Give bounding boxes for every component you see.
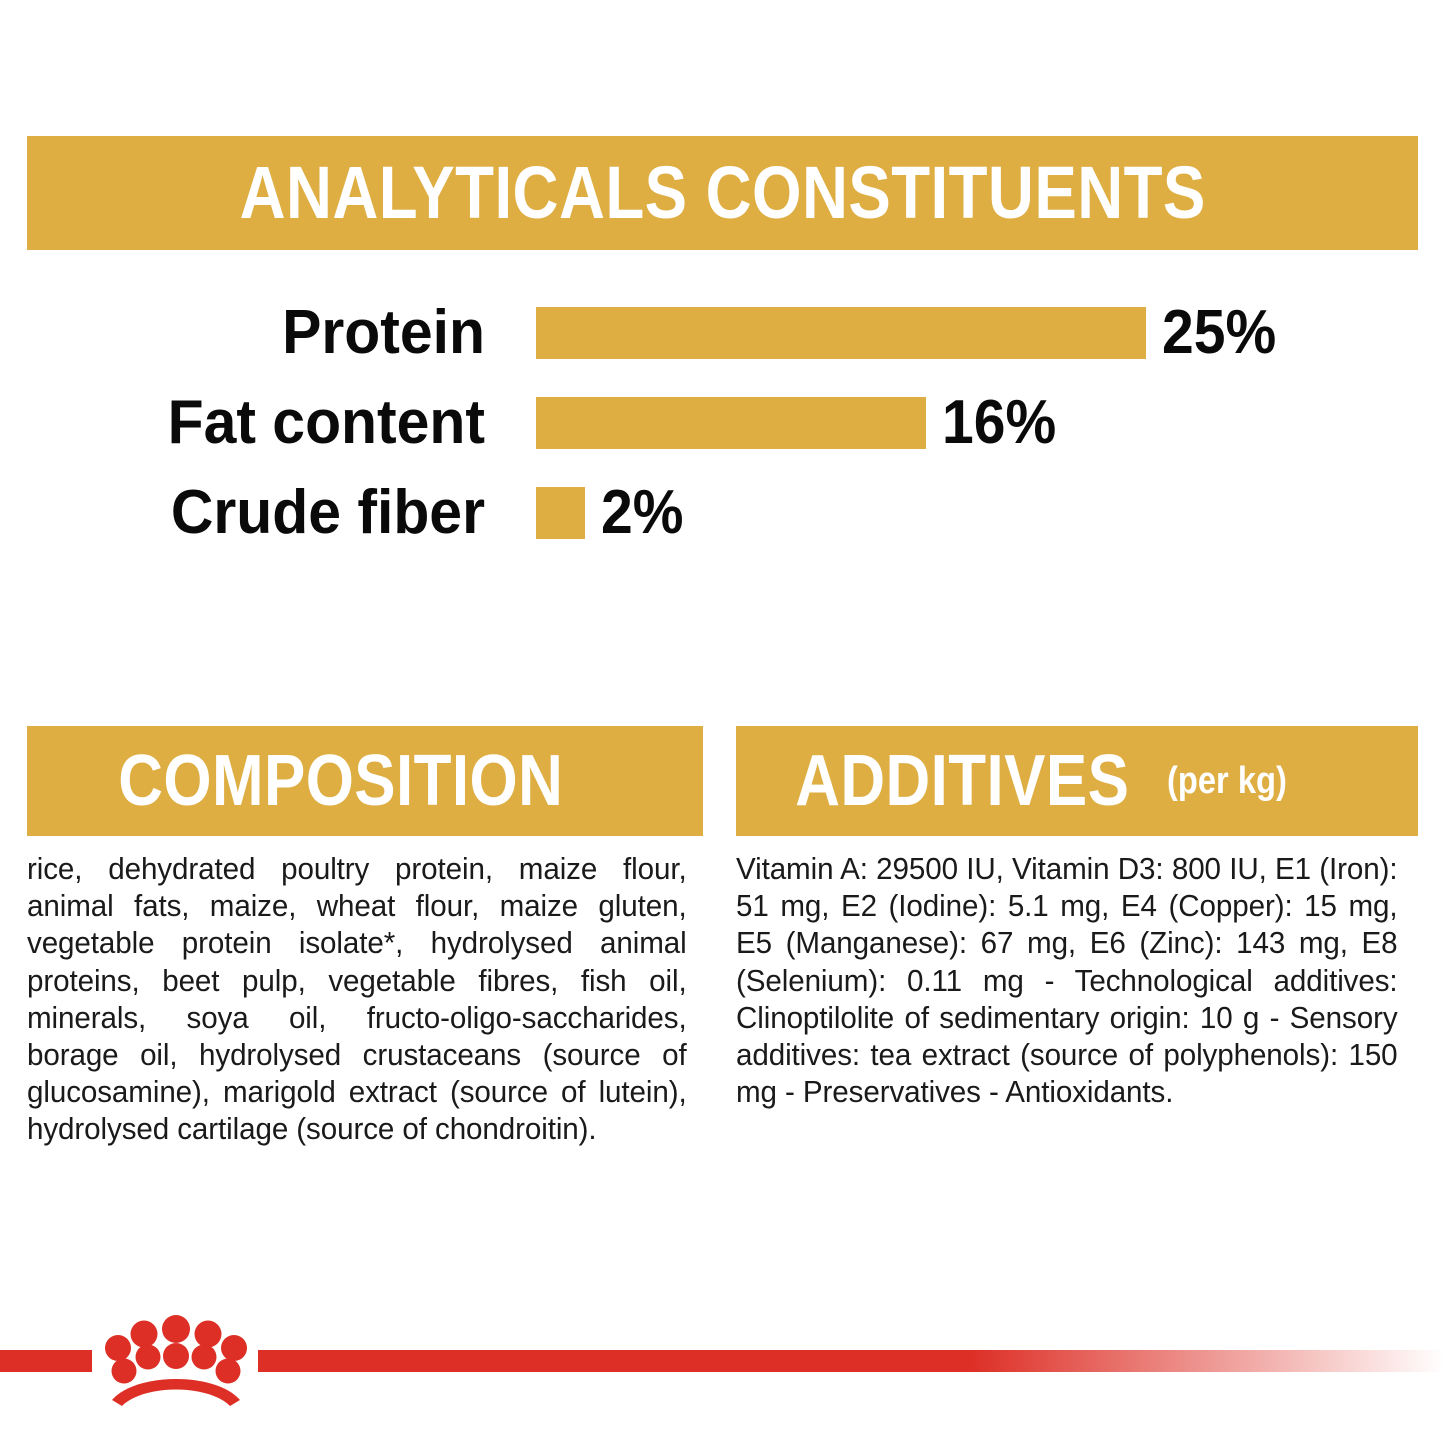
composition-header: COMPOSITION bbox=[27, 726, 703, 836]
footer bbox=[0, 1330, 1445, 1390]
bar-track-protein: 25% bbox=[536, 307, 1286, 359]
bar-label-protein: Protein bbox=[24, 302, 485, 364]
composition-heading-text: COMPOSITION bbox=[118, 745, 563, 817]
additives-heading-text: ADDITIVES bbox=[795, 745, 1129, 817]
composition-body-text: rice, dehydrated poultry protein, maize … bbox=[27, 851, 687, 1149]
bar-track-crude-fiber: 2% bbox=[536, 487, 690, 539]
royal-canin-crown-icon bbox=[96, 1312, 256, 1408]
analyticals-heading-text: ANALYTICALS CONSTITUENTS bbox=[239, 156, 1205, 230]
bar-fill-fat-content bbox=[536, 397, 926, 449]
footer-rule-left bbox=[0, 1350, 92, 1372]
analyticals-constituents-header: ANALYTICALS CONSTITUENTS bbox=[27, 136, 1418, 250]
additives-header: ADDITIVES (per kg) bbox=[736, 726, 1418, 836]
bar-track-fat-content: 16% bbox=[536, 397, 1066, 449]
additives-heading-suffix: (per kg) bbox=[1167, 762, 1287, 800]
constituents-bar-chart: Protein 25% Fat content 16% Crude fiber … bbox=[0, 288, 1445, 563]
bar-fill-crude-fiber bbox=[536, 487, 585, 539]
bar-row-crude-fiber: Crude fiber 2% bbox=[0, 468, 1445, 558]
footer-rule-right bbox=[258, 1350, 1445, 1372]
bar-value-crude-fiber: 2% bbox=[601, 482, 683, 544]
bar-row-fat-content: Fat content 16% bbox=[0, 378, 1445, 468]
bar-fill-protein bbox=[536, 307, 1146, 359]
additives-body-text: Vitamin A: 29500 IU, Vitamin D3: 800 IU,… bbox=[736, 851, 1398, 1111]
bar-label-crude-fiber: Crude fiber bbox=[24, 482, 485, 544]
bar-row-protein: Protein 25% bbox=[0, 288, 1445, 378]
nutrition-panel: ANALYTICALS CONSTITUENTS Protein 25% Fat… bbox=[0, 0, 1445, 1445]
bar-value-fat-content: 16% bbox=[942, 392, 1056, 454]
bar-label-fat-content: Fat content bbox=[24, 392, 485, 454]
bar-value-protein: 25% bbox=[1162, 302, 1276, 364]
